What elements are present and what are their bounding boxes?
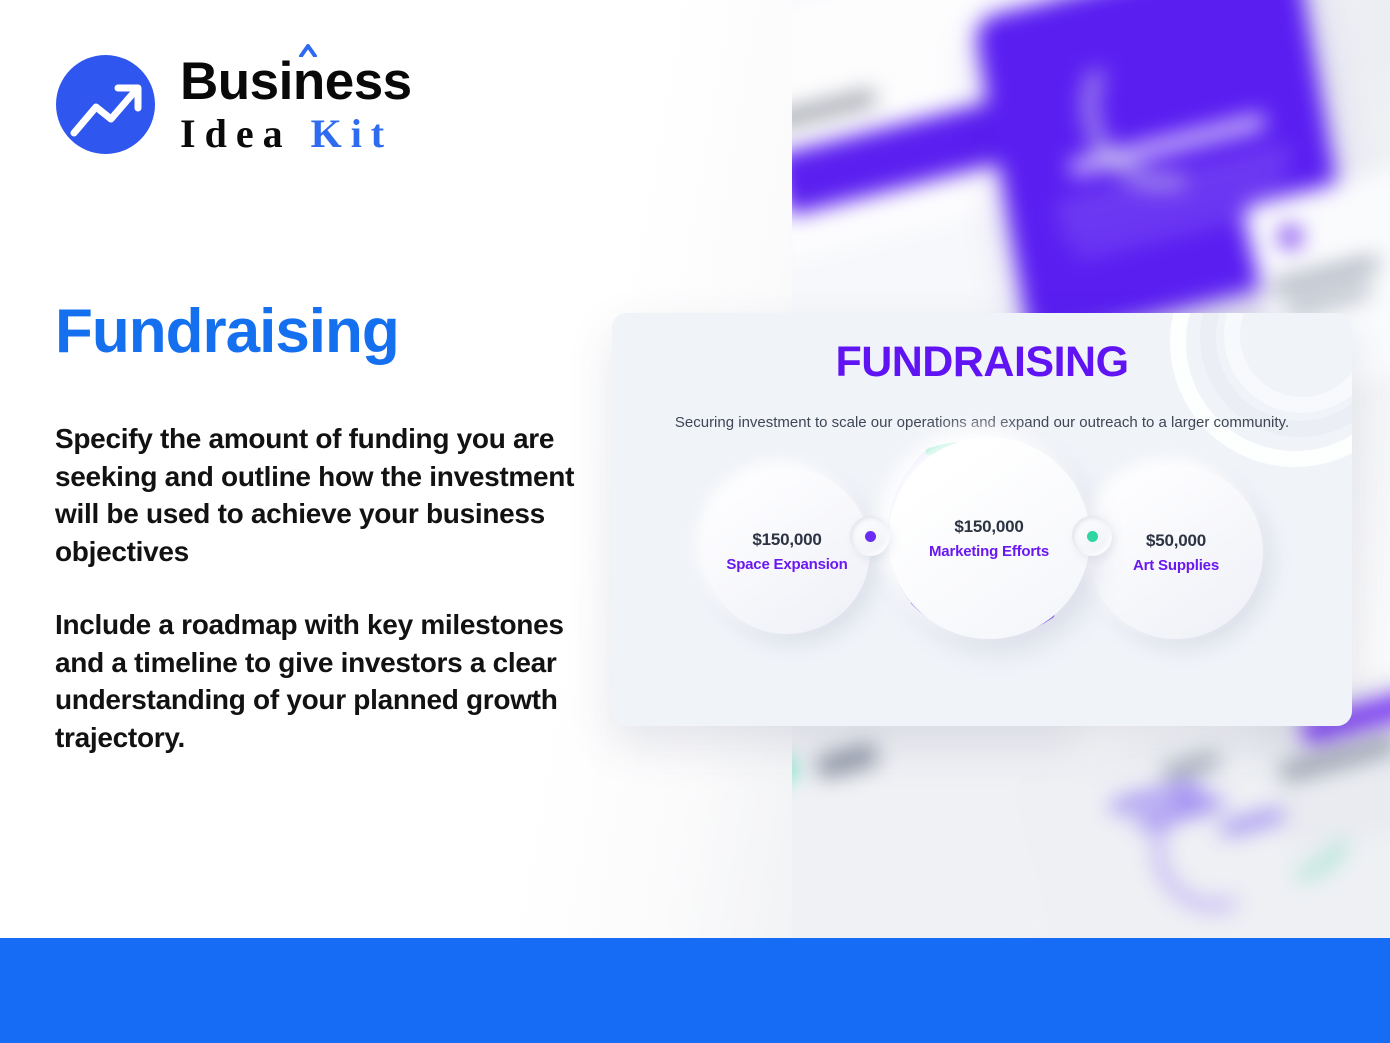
funding-allocation-diagram: $150,000 Space Expansion $50,000 Art Sup… (612, 465, 1352, 705)
funding-node-space-expansion[interactable]: $150,000 Space Expansion (704, 468, 870, 634)
brand-wordmark: Business Idea Kit (180, 55, 412, 154)
brand-name-kit: Kit (311, 111, 394, 156)
funding-amount: $50,000 (1146, 531, 1206, 551)
trending-up-arrow-icon (56, 55, 155, 154)
funding-label: Space Expansion (726, 556, 847, 573)
description-block: Specify the amount of funding you are se… (55, 420, 575, 756)
brand-logo[interactable]: Business Idea Kit (56, 55, 412, 154)
footer-bar (0, 938, 1390, 1043)
funding-amount: $150,000 (954, 517, 1023, 537)
funding-label: Marketing Efforts (929, 543, 1049, 560)
description-paragraph-2: Include a roadmap with key milestones an… (55, 606, 575, 756)
brand-name-top: Business (180, 55, 412, 108)
slide-title: FUNDRAISING (612, 338, 1352, 387)
brand-name-top-text: Business (180, 52, 412, 111)
brand-name-idea: Idea (180, 111, 311, 156)
funding-label: Art Supplies (1133, 557, 1219, 574)
page-title: Fundraising (55, 296, 399, 367)
description-paragraph-1: Specify the amount of funding you are se… (55, 420, 575, 570)
funding-node-marketing-efforts[interactable]: $150,000 Marketing Efforts (888, 437, 1090, 639)
fundraising-slide-card[interactable]: FUNDRAISING Securing investment to scale… (612, 313, 1352, 726)
green-connector-dot (1072, 516, 1112, 556)
circumflex-accent-icon (299, 44, 317, 57)
funding-amount: $150,000 (752, 530, 821, 550)
purple-connector-dot (850, 516, 890, 556)
brand-name-bottom: Idea Kit (180, 114, 412, 154)
